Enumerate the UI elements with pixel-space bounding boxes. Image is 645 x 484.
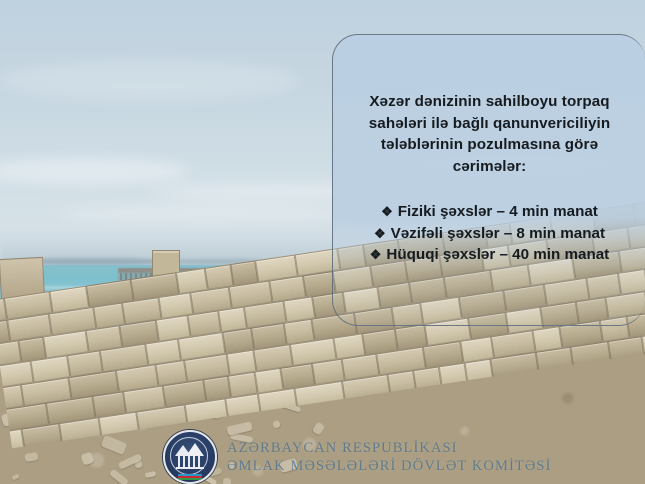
list-item: ❖Hüquqi şəxslər – 40 min manat	[347, 244, 632, 266]
heading-line-3: tələblərinin pozulmasına görə	[347, 134, 632, 156]
heading-line-4: cərimələr:	[347, 156, 632, 178]
text-panel-content: Xəzər dənizinin sahilboyu torpaq sahələr…	[333, 35, 645, 266]
state-committee-emblem-icon	[163, 430, 217, 484]
diamond-bullet-icon: ❖	[370, 247, 382, 262]
watermark-wordmark: AZƏRBAYCAN RESPUBLİKASI ƏMLAK MƏSƏLƏLƏRİ…	[227, 440, 552, 475]
diamond-bullet-icon: ❖	[381, 204, 393, 219]
list-item: ❖Vəzifəli şəxslər – 8 min manat	[347, 223, 632, 245]
diamond-bullet-icon: ❖	[374, 226, 386, 241]
heading-line-2: sahələri ilə bağlı qanunvericiliyin	[347, 113, 632, 135]
panel-heading: Xəzər dənizinin sahilboyu torpaq sahələr…	[347, 35, 632, 177]
cloud	[0, 60, 300, 100]
emblem-base	[176, 467, 204, 469]
emblem-mountain-icon	[186, 443, 204, 456]
azerbaijan-flag-icon	[178, 474, 202, 480]
watermark-line-1: AZƏRBAYCAN RESPUBLİKASI	[227, 440, 552, 457]
watermark: AZƏRBAYCAN RESPUBLİKASI ƏMLAK MƏSƏLƏLƏRİ…	[163, 430, 552, 484]
list-item: ❖Fiziki şəxslər – 4 min manat	[347, 201, 632, 223]
list-item-text: Hüquqi şəxslər – 40 min manat	[386, 246, 609, 263]
cloud	[60, 205, 360, 223]
infographic-image: Xəzər dənizinin sahilboyu torpaq sahələr…	[0, 0, 645, 484]
pier-piling	[120, 273, 122, 280]
fines-list: ❖Fiziki şəxslər – 4 min manat ❖Vəzifəli …	[347, 177, 632, 266]
watermark-line-2: ƏMLAK MƏSƏLƏLƏRİ DÖVLƏT KOMİTƏSİ	[227, 458, 552, 475]
text-panel: Xəzər dənizinin sahilboyu torpaq sahələr…	[332, 34, 645, 326]
list-item-text: Fiziki şəxslər – 4 min manat	[398, 203, 598, 220]
list-item-text: Vəzifəli şəxslər – 8 min manat	[391, 225, 605, 242]
heading-line-1: Xəzər dənizinin sahilboyu torpaq	[347, 91, 632, 113]
